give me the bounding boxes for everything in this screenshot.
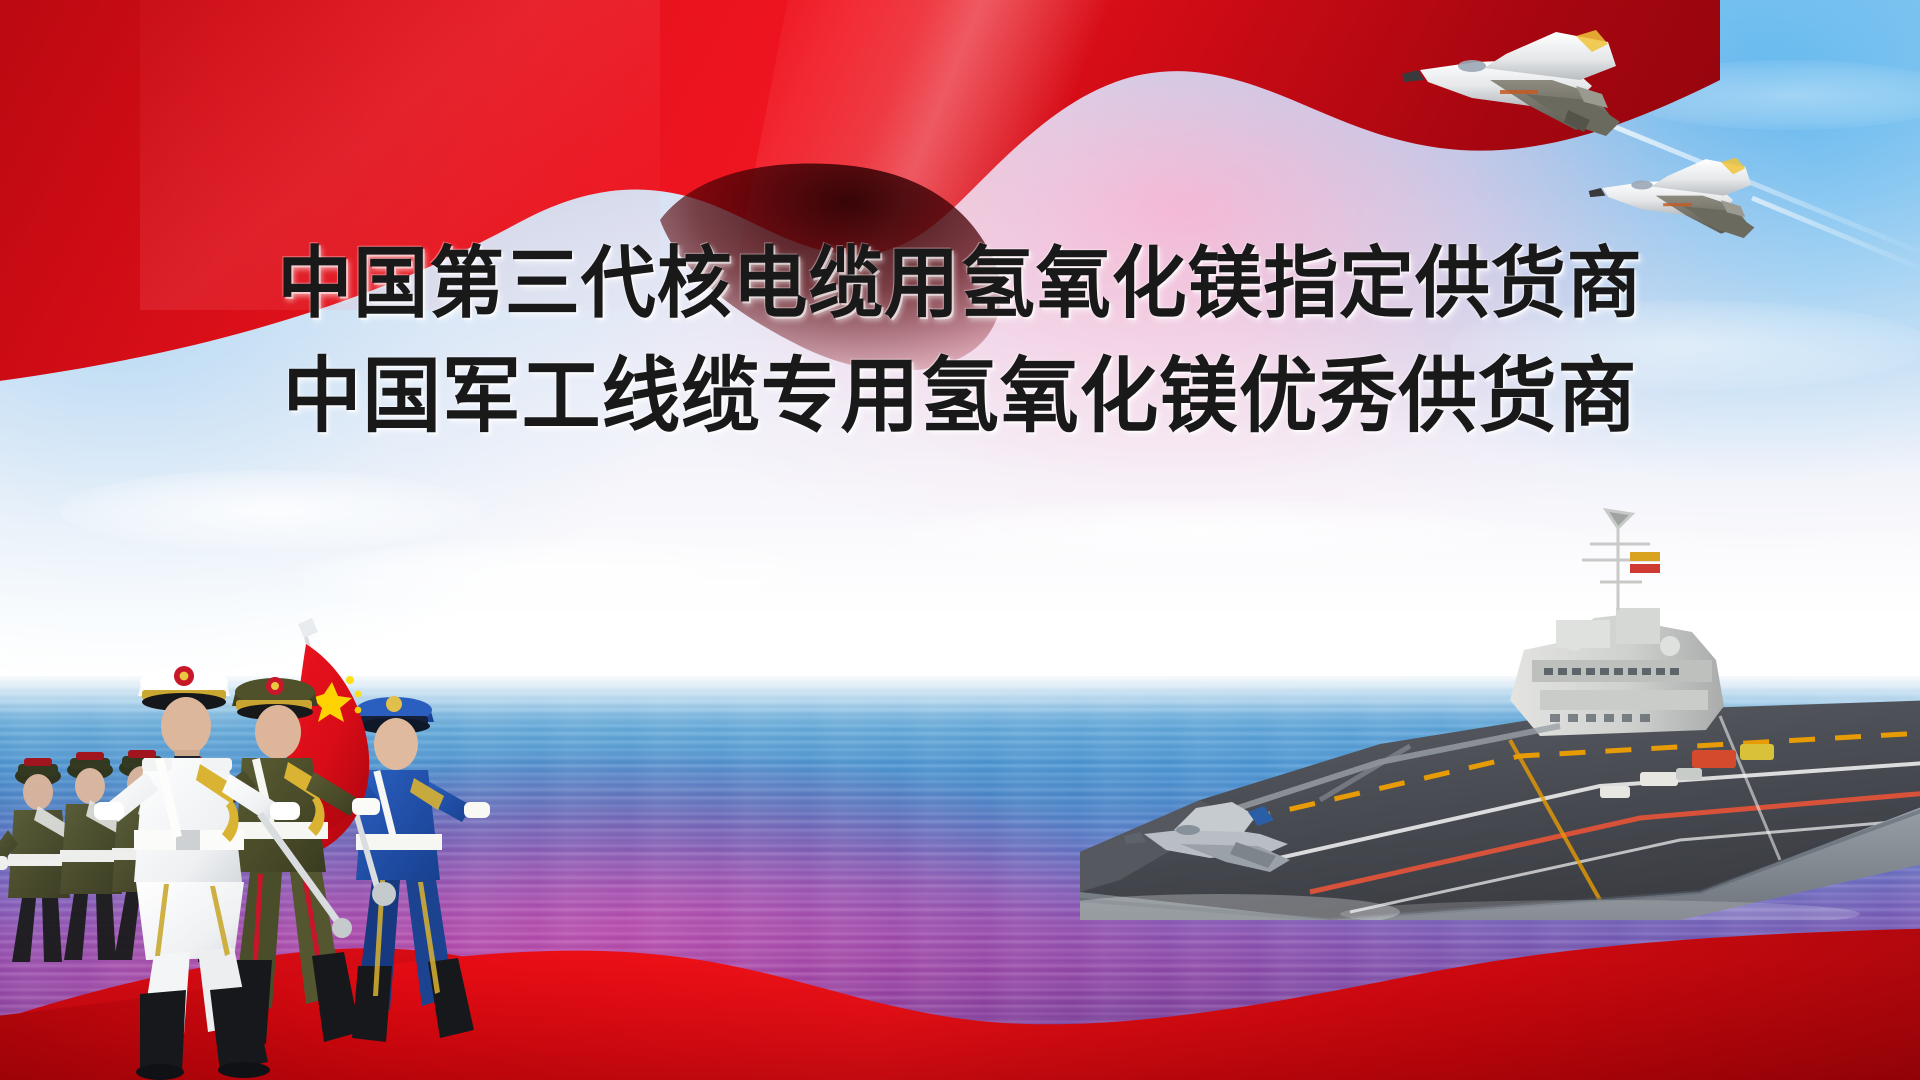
island-superstructure xyxy=(1510,510,1724,736)
headline-primary: 中国第三代核电缆用氢氧化镁指定供货商 xyxy=(38,244,1881,322)
banner-root: 中国第三代核电缆用氢氧化镁指定供货商 中国军工线缆专用氢氧化镁优秀供货商 xyxy=(0,0,1920,1080)
fighter-jet-lead xyxy=(1402,30,1620,136)
cloud-wisp xyxy=(60,470,480,550)
headline-block: 中国第三代核电缆用氢氧化镁指定供货商 中国军工线缆专用氢氧化镁优秀供货商 xyxy=(0,244,1920,438)
headline-secondary: 中国军工线缆专用氢氧化镁优秀供货商 xyxy=(38,356,1881,438)
fighter-jet-wingman xyxy=(1589,158,1755,239)
aircraft-carrier xyxy=(1080,500,1920,920)
honor-guard xyxy=(0,590,520,1080)
fighter-jets xyxy=(1380,20,1920,270)
